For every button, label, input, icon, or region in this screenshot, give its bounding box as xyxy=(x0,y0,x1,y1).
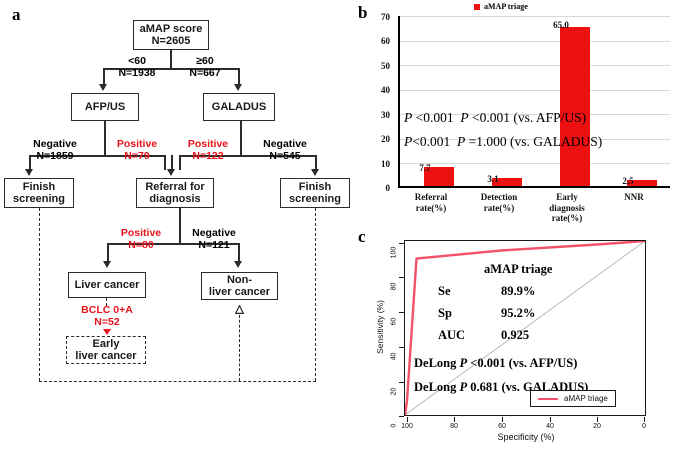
annot-p1v-afpus: <0.001 xyxy=(412,110,453,125)
roc-y-tick-100: 100 xyxy=(391,242,398,264)
edge-label-gal-negative-line2: N=545 xyxy=(247,151,323,163)
node-amap-score-line2: N=2605 xyxy=(152,35,191,47)
node-referral-line1: Referral for xyxy=(145,181,204,193)
y-tick-70: 70 xyxy=(364,12,390,22)
legend-label-amap-triage: aMAP triage xyxy=(484,2,528,11)
x-cat-early-l3: rate(%) xyxy=(528,213,606,224)
bar-value-detection-rate: 3.1 xyxy=(480,174,506,184)
edge-afpus-stem xyxy=(104,121,106,142)
gridline-70 xyxy=(400,16,670,17)
arrow-feedback-to-non-liver xyxy=(235,301,244,309)
gridline-60 xyxy=(400,41,670,42)
roc-y-tick-80: 80 xyxy=(391,276,398,298)
node-early-liver-line1: Early xyxy=(93,338,120,350)
edge-label-afp-negative-line1: Negative xyxy=(15,139,95,151)
y-tick-60: 60 xyxy=(364,36,390,46)
edge-refpos-drop xyxy=(107,243,109,262)
dashed-left-branch xyxy=(39,208,40,381)
open-arrow-icon xyxy=(235,305,244,314)
edge-label-ref-positive-line2: N=80 xyxy=(112,240,170,252)
roc-x-tick-40: 40 xyxy=(539,423,561,430)
roc-legend: aMAP triage xyxy=(530,390,616,407)
edge-label-lt60-line1: <60 xyxy=(113,56,161,68)
arrow-to-galadus xyxy=(234,84,242,91)
arrow-to-afpus xyxy=(99,84,107,91)
node-liver-cancer: Liver cancer xyxy=(68,272,146,298)
annot-p1-galadus: P xyxy=(404,134,412,149)
node-finish-right-line2: screening xyxy=(289,193,341,205)
edge-galadus-stem xyxy=(240,121,242,142)
annot-vs-afpus: (vs. AFP/US) xyxy=(510,110,586,125)
roc-x-tickmark-0 xyxy=(644,417,645,422)
gridline-50 xyxy=(400,65,670,66)
annot-p2-afpus: P xyxy=(460,110,468,125)
edge-label-ge60-line2: N=667 xyxy=(181,68,229,80)
roc-legend-label: aMAP triage xyxy=(564,394,608,403)
x-category-detection-rate: Detection rate(%) xyxy=(460,192,538,213)
edge-label-ref-negative-line1: Negative xyxy=(184,228,244,240)
roc-delong-afpus-p: P xyxy=(460,356,468,370)
gridline-10 xyxy=(400,163,670,164)
x-category-nnr: NNR xyxy=(595,192,673,203)
x-cat-referral-l1: Referral xyxy=(392,192,470,203)
edge-label-afp-positive-line1: Positive xyxy=(109,139,165,151)
roc-x-tickmark-100 xyxy=(407,417,408,422)
panel-a-letter: a xyxy=(12,6,21,23)
roc-x-tick-100: 100 xyxy=(396,423,418,430)
edge-referral-stem xyxy=(179,208,181,232)
roc-x-tickmark-40 xyxy=(550,417,551,422)
arrow-to-finish-right xyxy=(311,169,319,176)
node-non-liver-line2: liver cancer xyxy=(209,286,270,298)
roc-delong-galadus-p: P xyxy=(460,380,468,394)
node-finish-screening-right: Finish screening xyxy=(280,178,350,208)
node-early-liver-cancer: Early liver cancer xyxy=(66,336,146,364)
arrow-to-finish-left xyxy=(25,169,33,176)
edge-label-ref-negative-line2: N=121 xyxy=(184,240,244,252)
y-tick-10: 10 xyxy=(364,159,390,169)
roc-delong-galadus-value: 0.681 xyxy=(467,380,498,394)
arrow-to-non-liver-cancer xyxy=(234,261,242,268)
y-tick-40: 40 xyxy=(364,85,390,95)
bar-early-diagnosis-rate xyxy=(560,27,590,186)
panel-c-letter: c xyxy=(358,228,366,245)
node-referral-for-diagnosis: Referral for diagnosis xyxy=(136,178,214,208)
node-galadus-label: GALADUS xyxy=(212,101,266,113)
roc-y-axis-label: Sensitivity (%) xyxy=(375,277,385,377)
roc-stat-value-sp: 95.2% xyxy=(501,306,535,321)
panel-c-roc-curve: c Sensitivity (%) 100 80 60 40 20 0 100 … xyxy=(356,228,685,449)
roc-x-tick-60: 60 xyxy=(491,423,513,430)
x-category-referral-rate: Referral rate(%) xyxy=(392,192,470,213)
edge-label-gal-positive-line1: Positive xyxy=(180,139,236,151)
edge-label-bclc-line1: BCLC 0+A xyxy=(72,305,142,317)
node-finish-right-line1: Finish xyxy=(299,181,331,193)
bar-value-referral-rate: 7.7 xyxy=(412,163,438,173)
roc-stat-value-se: 89.9% xyxy=(501,284,535,299)
roc-x-tick-0: 0 xyxy=(633,423,655,430)
edge-root-stem xyxy=(170,50,172,69)
panel-b-bar-chart: b aMAP triage 70 60 50 40 30 20 10 0 7.7… xyxy=(356,0,685,232)
roc-x-tickmark-60 xyxy=(502,417,503,422)
roc-stats-header: aMAP triage xyxy=(484,262,552,277)
node-amap-score: aMAP score N=2605 xyxy=(133,20,209,50)
roc-stat-label-se: Se xyxy=(438,284,451,299)
roc-y-tick-60: 60 xyxy=(391,311,398,333)
y-tick-0: 0 xyxy=(364,183,390,193)
edge-root-right-drop xyxy=(238,68,240,85)
x-cat-early-l2: diagnosis xyxy=(528,203,606,214)
arrow-to-referral xyxy=(167,169,175,176)
node-amap-score-line1: aMAP score xyxy=(140,23,203,35)
node-afp-us: AFP/US xyxy=(71,93,139,121)
edge-root-left-drop xyxy=(103,68,105,85)
annot-p1-afpus: P xyxy=(404,110,412,125)
panel-a-flowchart: a aMAP score N=2605 <60 N=1938 ≥60 N=667… xyxy=(0,0,352,449)
y-tick-50: 50 xyxy=(364,61,390,71)
roc-delong-afpus-vs: (vs. AFP/US) xyxy=(506,356,578,370)
roc-x-tickmark-20 xyxy=(597,417,598,422)
node-non-liver-line1: Non- xyxy=(227,274,252,286)
roc-y-tickmark-0 xyxy=(399,416,404,417)
node-galadus: GALADUS xyxy=(203,93,275,121)
roc-delong-galadus-prefix: DeLong xyxy=(414,380,460,394)
annotation-afpus: P <0.001 P <0.001 (vs. AFP/US) xyxy=(404,110,586,126)
roc-x-tick-80: 80 xyxy=(443,423,465,430)
edge-label-afp-positive-line2: N=79 xyxy=(109,151,165,163)
edge-label-gal-negative-line1: Negative xyxy=(247,139,323,151)
annot-p1v-galadus: <0.001 xyxy=(412,134,450,149)
roc-delong-afpus-prefix: DeLong xyxy=(414,356,460,370)
edge-label-afp-negative-line2: N=1859 xyxy=(15,151,95,163)
node-early-liver-line2: liver cancer xyxy=(75,350,136,362)
node-afp-us-label: AFP/US xyxy=(85,101,125,113)
dashed-feedback-up xyxy=(239,310,240,381)
node-referral-line2: diagnosis xyxy=(149,193,200,205)
annotation-galadus: P<0.001 P =1.000 (vs. GALADUS) xyxy=(404,134,602,150)
annot-vs-galadus: (vs. GALADUS) xyxy=(507,134,603,149)
bar-chart-plot-area xyxy=(398,16,670,188)
dashed-right-branch xyxy=(315,208,316,381)
edge-label-ge60-line1: ≥60 xyxy=(181,56,229,68)
annot-p2-galadus: P xyxy=(457,134,465,149)
roc-stat-label-auc: AUC xyxy=(438,328,465,343)
roc-delong-afpus: DeLong P <0.001 (vs. AFP/US) xyxy=(414,356,577,371)
bar-value-early-diagnosis-rate: 65.0 xyxy=(548,20,574,30)
bar-value-nnr: 2.5 xyxy=(615,176,641,186)
edge-referral-drop xyxy=(171,155,173,170)
node-finish-left-line2: screening xyxy=(13,193,65,205)
x-cat-referral-l2: rate(%) xyxy=(392,203,470,214)
roc-x-tick-20: 20 xyxy=(586,423,608,430)
legend-swatch-icon xyxy=(474,4,480,10)
gridline-40 xyxy=(400,90,670,91)
roc-y-tick-20: 20 xyxy=(391,381,398,403)
edge-label-ref-positive-line1: Positive xyxy=(112,228,170,240)
node-finish-screening-left: Finish screening xyxy=(4,178,74,208)
roc-delong-afpus-value: <0.001 xyxy=(467,356,505,370)
node-finish-left-line1: Finish xyxy=(23,181,55,193)
roc-stat-value-auc: 0.925 xyxy=(501,328,529,343)
roc-stat-label-sp: Sp xyxy=(438,306,452,321)
node-non-liver-cancer: Non- liver cancer xyxy=(201,272,278,300)
edge-label-lt60-line2: N=1938 xyxy=(113,68,161,80)
y-tick-30: 30 xyxy=(364,110,390,120)
x-cat-nnr-l1: NNR xyxy=(595,192,673,203)
roc-x-tickmark-80 xyxy=(454,417,455,422)
x-cat-detection-l2: rate(%) xyxy=(460,203,538,214)
bar-chart-legend: aMAP triage xyxy=(474,2,528,11)
y-tick-20: 20 xyxy=(364,134,390,144)
roc-x-axis-label: Specificity (%) xyxy=(466,432,586,442)
annot-p2v-afpus: <0.001 xyxy=(469,110,510,125)
edge-ref-mid xyxy=(179,232,181,244)
x-cat-detection-l1: Detection xyxy=(460,192,538,203)
arrow-to-early-liver-cancer xyxy=(103,329,111,335)
edge-label-gal-positive-line2: N=122 xyxy=(180,151,236,163)
legend-line-icon xyxy=(538,398,558,400)
edge-gal-mid xyxy=(240,142,242,156)
roc-y-tick-40: 40 xyxy=(391,346,398,368)
dashed-bottom-rail xyxy=(39,381,316,382)
annot-p2v-galadus: =1.000 xyxy=(465,134,506,149)
edge-afpus-mid xyxy=(104,142,106,156)
node-liver-cancer-label: Liver cancer xyxy=(75,279,140,291)
arrow-to-liver-cancer xyxy=(103,261,111,268)
edge-label-bclc-line2: N=52 xyxy=(72,317,142,329)
